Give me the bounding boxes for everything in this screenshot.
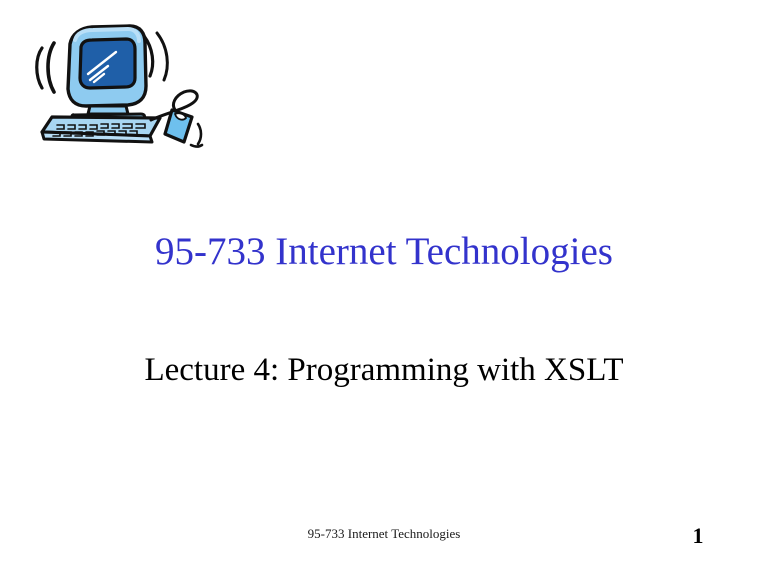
slide-subtitle: Lecture 4: Programming with XSLT bbox=[0, 353, 768, 388]
motion-lines-left bbox=[37, 43, 54, 92]
mouse bbox=[165, 110, 192, 142]
monitor bbox=[68, 26, 146, 119]
slide-title: 95-733 Internet Technologies bbox=[0, 232, 768, 273]
slide-footer-text: 95-733 Internet Technologies bbox=[0, 527, 768, 541]
mouse-motion-lines bbox=[191, 124, 202, 147]
slide-page-number: 1 bbox=[686, 524, 710, 548]
slide-canvas: 95-733 Internet Technologies Lecture 4: … bbox=[0, 0, 768, 576]
computer-clipart bbox=[18, 14, 218, 164]
motion-lines-right bbox=[144, 33, 167, 80]
keyboard bbox=[42, 117, 160, 142]
